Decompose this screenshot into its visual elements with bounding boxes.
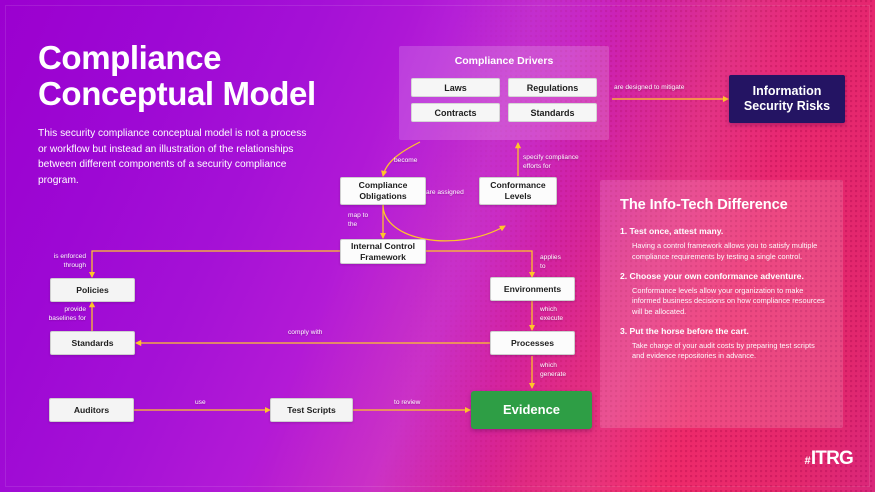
difference-item: 1. Test once, attest many. Having a cont… [620, 226, 825, 262]
node-test-scripts: Test Scripts [270, 398, 353, 422]
node-conformance-levels: Conformance Levels [479, 177, 557, 205]
compliance-drivers-panel: Compliance Drivers Laws Regulations Cont… [399, 46, 609, 140]
node-evidence: Evidence [471, 391, 592, 429]
label-provide-baselines-for: provide baselines for [22, 306, 86, 323]
node-information-security-risks: Information Security Risks [729, 75, 845, 123]
difference-item-body: Having a control framework allows you to… [620, 241, 825, 261]
driver-standards: Standards [508, 103, 597, 122]
node-auditors: Auditors [49, 398, 134, 422]
label-become: become [394, 157, 417, 166]
node-internal-control-framework: Internal Control Framework [340, 239, 426, 264]
difference-item-body: Conformance levels allow your organizati… [620, 286, 825, 317]
label-are-assigned: are assigned [426, 189, 464, 198]
logo-text: ITRG [811, 448, 853, 470]
page-subtitle: This security compliance conceptual mode… [38, 126, 310, 188]
difference-item: 3. Put the horse before the cart. Take c… [620, 326, 825, 362]
label-mitigate: are designed to mitigate [614, 84, 684, 93]
difference-item-heading: 1. Test once, attest many. [620, 226, 825, 237]
label-comply-with: comply with [288, 329, 322, 338]
node-processes: Processes [490, 331, 575, 355]
label-which-execute: which execute [540, 306, 563, 323]
difference-item: 2. Choose your own conformance adventure… [620, 271, 825, 317]
node-compliance-obligations: Compliance Obligations [340, 177, 426, 205]
label-map-to-the: map to the [348, 212, 368, 229]
difference-item-heading: 3. Put the horse before the cart. [620, 326, 825, 337]
difference-item-body: Take charge of your audit costs by prepa… [620, 341, 825, 361]
node-standards: Standards [50, 331, 135, 355]
label-to-review: to review [394, 399, 420, 408]
label-specify: specify compliance efforts for [523, 154, 579, 171]
edge-applies-to [426, 251, 532, 277]
hash-icon: # [804, 455, 809, 467]
page-title: Compliance Conceptual Model [38, 40, 398, 113]
driver-laws: Laws [411, 78, 500, 97]
info-tech-difference-panel: The Info-Tech Difference 1. Test once, a… [600, 180, 843, 428]
label-is-enforced-through: is enforced through [26, 253, 86, 270]
compliance-drivers-title: Compliance Drivers [399, 55, 609, 67]
label-applies-to: applies to [540, 254, 561, 271]
title-line-1: Compliance [38, 40, 398, 76]
edge-is-enforced-through [92, 251, 340, 277]
node-environments: Environments [490, 277, 575, 301]
itrg-logo: # ITRG [804, 448, 853, 470]
edge-are-assigned [383, 205, 505, 241]
node-policies: Policies [50, 278, 135, 302]
driver-regulations: Regulations [508, 78, 597, 97]
info-tech-difference-title: The Info-Tech Difference [620, 197, 825, 213]
title-line-2: Conceptual Model [38, 76, 398, 112]
label-which-generate: which generate [540, 362, 566, 379]
label-use: use [195, 399, 206, 408]
driver-contracts: Contracts [411, 103, 500, 122]
difference-item-heading: 2. Choose your own conformance adventure… [620, 271, 825, 282]
infographic-canvas: Compliance Conceptual Model This securit… [0, 0, 875, 492]
